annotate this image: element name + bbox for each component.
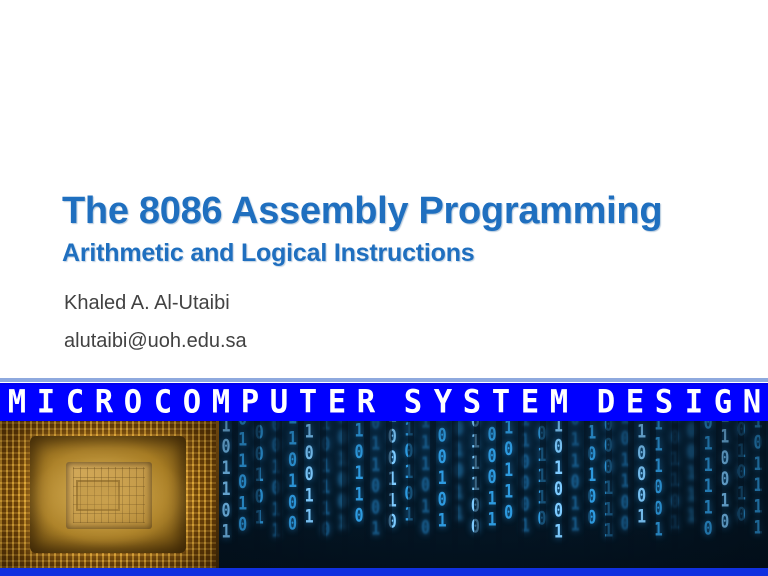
chip-vignette — [0, 421, 216, 568]
binary-column: 0 1 1 0 0 1 — [368, 421, 384, 568]
binary-columns: 1 0 1 1 0 10 1 1 0 1 01 0 0 1 0 10 0 1 0… — [216, 421, 768, 568]
binary-column: 1 0 1 1 0 0 — [617, 421, 633, 568]
binary-column: 0 1 0 1 1 0 — [501, 421, 517, 568]
banner-char: M — [212, 387, 233, 419]
binary-column: 0 1 1 1 0 0 — [467, 421, 483, 568]
binary-column: 1 0 0 1 1 1 — [684, 421, 700, 568]
banner-char: M — [550, 387, 571, 419]
binary-column: 1 0 1 0 0 1 — [551, 421, 567, 568]
binary-column: 0 1 1 0 1 1 — [567, 421, 583, 568]
presentation-title-slide: The 8086 Assembly Programming Arithmetic… — [0, 0, 768, 576]
binary-column: 1 1 0 0 1 0 — [717, 421, 733, 568]
binary-column: 0 0 0 1 0 1 — [434, 421, 450, 568]
banner-char: E — [626, 387, 647, 419]
binary-column: 0 1 1 1 1 0 — [700, 421, 716, 568]
bottom-blue-strip — [0, 568, 768, 576]
binary-column: 1 0 0 0 1 1 — [484, 421, 500, 568]
course-banner-label: MICROCOMPUTERSYSTEMDESIGN — [8, 388, 764, 418]
banner-char: I — [37, 387, 58, 419]
photo-seam — [216, 421, 219, 568]
banner-char: U — [270, 387, 291, 419]
author-email: alutaibi@uoh.edu.sa — [64, 331, 704, 351]
banner-char: N — [743, 387, 764, 419]
banner-char: O — [124, 387, 145, 419]
page-subtitle: Arithmetic and Logical Instructions — [62, 239, 742, 268]
binary-column: 1 1 0 0 0 1 — [517, 421, 533, 568]
footer-image-strip: 1 0 1 1 0 10 1 1 0 1 01 0 0 1 0 10 0 1 0… — [0, 421, 768, 568]
banner-char: E — [521, 387, 542, 419]
page-title: The 8086 Assembly Programming — [62, 190, 742, 233]
binary-column: 1 1 0 1 1 0 — [351, 421, 367, 568]
cpu-chip-photo — [0, 421, 216, 568]
banner-char: G — [713, 387, 734, 419]
binary-column: 0 1 0 1 0 1 — [401, 421, 417, 568]
binary-matrix-photo: 1 0 1 1 0 10 1 1 0 1 01 0 0 1 0 10 0 1 0… — [216, 421, 768, 568]
course-banner: MICROCOMPUTERSYSTEMDESIGN — [0, 385, 768, 421]
binary-column: 0 0 1 0 1 0 — [733, 421, 749, 568]
binary-column: 0 1 1 0 1 0 — [235, 421, 251, 568]
author-name: Khaled A. Al-Utaibi — [64, 293, 704, 313]
banner-char: T — [299, 387, 320, 419]
banner-space — [386, 388, 396, 418]
binary-column: 1 1 0 1 0 0 — [285, 421, 301, 568]
binary-column: 1 0 1 1 1 1 — [750, 421, 766, 568]
banner-char: M — [8, 387, 29, 419]
banner-char: D — [597, 387, 618, 419]
banner-char: S — [655, 387, 676, 419]
binary-column: 1 0 1 1 0 1 — [218, 421, 234, 568]
binary-column: 0 0 1 0 1 1 — [268, 421, 284, 568]
divider-rule-light — [0, 378, 768, 382]
binary-column: 0 0 0 1 1 1 — [600, 421, 616, 568]
binary-column: 1 0 0 1 1 0 — [384, 421, 400, 568]
banner-char: S — [404, 387, 425, 419]
binary-column: 0 1 0 0 0 1 — [634, 421, 650, 568]
banner-char: C — [66, 387, 87, 419]
author-block: Khaled A. Al-Utaibi alutaibi@uoh.edu.sa — [64, 293, 704, 351]
banner-char: I — [684, 387, 705, 419]
binary-column: 1 0 0 1 0 1 — [251, 421, 267, 568]
binary-column: 0 0 1 0 0 1 — [334, 421, 350, 568]
title-block: The 8086 Assembly Programming Arithmetic… — [62, 190, 742, 267]
binary-column: 0 0 1 1 0 1 — [667, 421, 683, 568]
binary-column: 1 0 1 1 1 0 — [318, 421, 334, 568]
binary-column: 1 1 0 1 0 0 — [584, 421, 600, 568]
binary-column: 0 1 0 0 1 1 — [301, 421, 317, 568]
banner-char: R — [95, 387, 116, 419]
binary-column: 0 0 1 1 1 0 — [534, 421, 550, 568]
banner-char: S — [462, 387, 483, 419]
banner-space — [579, 388, 589, 418]
banner-char: R — [357, 387, 378, 419]
banner-char: P — [241, 387, 262, 419]
binary-column: 1 1 1 0 1 0 — [418, 421, 434, 568]
binary-column: 1 1 1 0 0 1 — [650, 421, 666, 568]
banner-char: E — [328, 387, 349, 419]
banner-char: O — [182, 387, 203, 419]
banner-char: C — [153, 387, 174, 419]
banner-char: T — [492, 387, 513, 419]
banner-char: Y — [433, 387, 454, 419]
binary-column: 1 0 1 0 1 1 — [451, 421, 467, 568]
